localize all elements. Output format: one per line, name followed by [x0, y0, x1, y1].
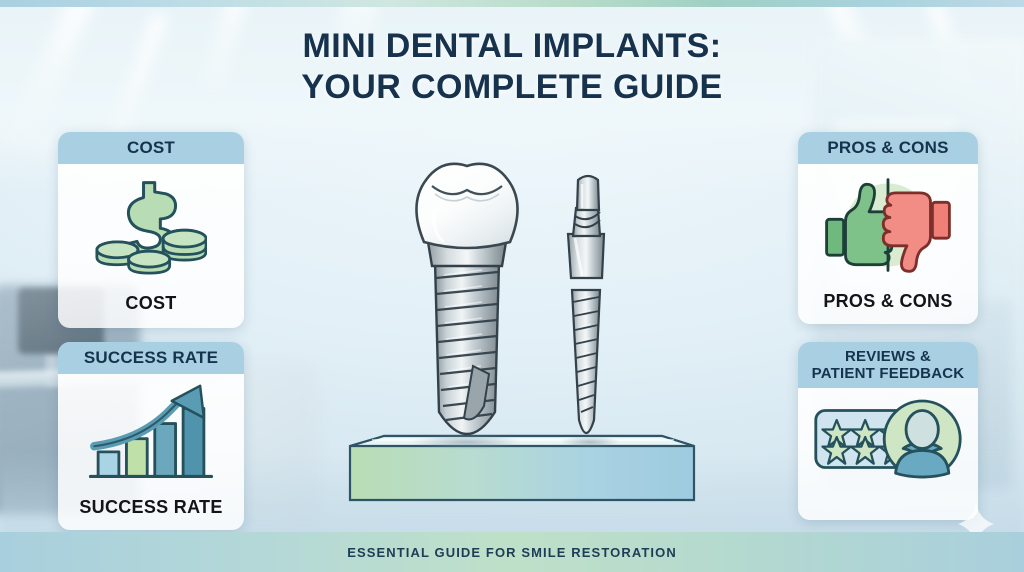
- card-reviews-feedback[interactable]: REVIEWS & PATIENT FEEDBACK: [798, 342, 978, 520]
- title-line-2: YOUR COMPLETE GUIDE: [0, 67, 1024, 108]
- standard-implant: [416, 164, 517, 434]
- dollar-coins-icon: [95, 177, 207, 280]
- mini-implant: [568, 176, 604, 433]
- top-accent-strip: [0, 0, 1024, 7]
- card-reviews-header-line-2: PATIENT FEEDBACK: [812, 365, 965, 382]
- card-cost[interactable]: COST: [58, 132, 244, 328]
- card-success-rate-body: [58, 374, 244, 497]
- card-pros-cons[interactable]: PROS & CONS: [798, 132, 978, 324]
- card-reviews-feedback-header: REVIEWS & PATIENT FEEDBACK: [798, 342, 978, 388]
- infographic-canvas: MINI DENTAL IMPLANTS: YOUR COMPLETE GUID…: [0, 0, 1024, 572]
- card-cost-body: [58, 164, 244, 293]
- bone-block-platform: [350, 436, 694, 500]
- bar-chart-arrow-up-icon: [83, 382, 219, 489]
- thumbs-up-down-icon: [817, 174, 959, 281]
- card-success-rate[interactable]: SUCCESS RATE SUCCESS RATE: [58, 342, 244, 530]
- card-cost-header: COST: [58, 132, 244, 164]
- card-pros-cons-body: [798, 164, 978, 291]
- footer-text: ESSENTIAL GUIDE FOR SMILE RESTORATION: [347, 545, 677, 560]
- card-pros-cons-caption: PROS & CONS: [823, 291, 952, 324]
- card-cost-caption: COST: [125, 293, 176, 328]
- footer-banner: ESSENTIAL GUIDE FOR SMILE RESTORATION: [0, 532, 1024, 572]
- star-rating-avatar-icon: [812, 399, 964, 484]
- page-title: MINI DENTAL IMPLANTS: YOUR COMPLETE GUID…: [0, 26, 1024, 109]
- card-reviews-header-line-1: REVIEWS &: [845, 348, 931, 365]
- dental-implant-illustration: [332, 150, 712, 530]
- card-success-rate-header: SUCCESS RATE: [58, 342, 244, 374]
- card-pros-cons-header: PROS & CONS: [798, 132, 978, 164]
- card-success-rate-caption: SUCCESS RATE: [79, 497, 222, 530]
- title-line-1: MINI DENTAL IMPLANTS:: [303, 27, 722, 65]
- card-reviews-feedback-body: [798, 388, 978, 520]
